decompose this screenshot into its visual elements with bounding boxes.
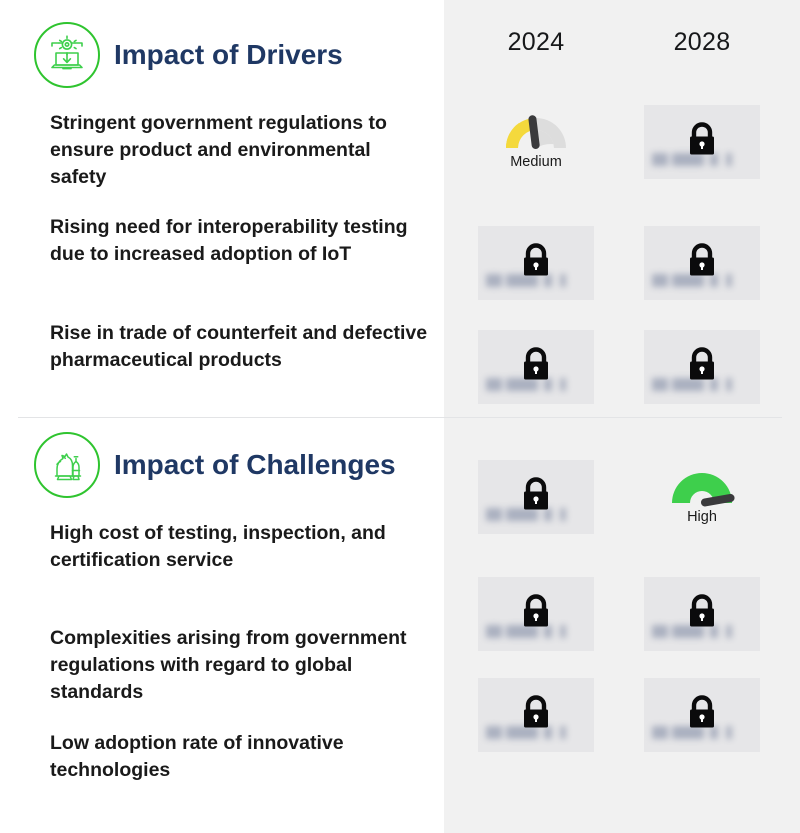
section-title-challenges: Impact of Challenges	[114, 449, 396, 481]
locked-tile[interactable]	[644, 226, 760, 300]
lock-icon	[520, 476, 552, 519]
locked-tile[interactable]	[478, 460, 594, 534]
lock-icon	[686, 593, 718, 636]
section-divider	[18, 417, 782, 418]
gauge-cell-challenges-1-2028: High	[644, 460, 760, 525]
challenge-item-3: Low adoption rate of innovative technolo…	[50, 730, 430, 784]
driver-item-1: Stringent government regulations to ensu…	[50, 110, 430, 191]
infographic-root: 2024 2028 Impact of Drivers Str	[0, 0, 800, 833]
lock-icon	[686, 346, 718, 389]
challenge-item-2: Complexities arising from government reg…	[50, 625, 430, 706]
locked-tile[interactable]	[644, 330, 760, 404]
locked-tile[interactable]	[644, 105, 760, 179]
lock-icon	[520, 242, 552, 285]
lock-icon	[686, 242, 718, 285]
lock-icon	[686, 694, 718, 737]
gauge-label-high: High	[644, 509, 760, 525]
lock-icon	[520, 694, 552, 737]
challenge-item-1: High cost of testing, inspection, and ce…	[50, 520, 430, 574]
locked-tile[interactable]	[644, 678, 760, 752]
drivers-automation-icon	[34, 22, 100, 88]
lock-icon	[520, 346, 552, 389]
driver-item-2: Rising need for interoperability testing…	[50, 214, 430, 268]
challenges-chess-icon	[34, 432, 100, 498]
gauge-cell-drivers-1-2024: Medium	[478, 105, 594, 170]
gauge-high	[663, 460, 741, 508]
section-heading-challenges: Impact of Challenges	[34, 432, 396, 498]
locked-tile[interactable]	[478, 678, 594, 752]
column-header-2028: 2028	[622, 28, 782, 57]
locked-tile[interactable]	[478, 577, 594, 651]
gauge-label-medium: Medium	[478, 154, 594, 170]
gauge-medium	[497, 105, 575, 153]
locked-tile[interactable]	[644, 577, 760, 651]
column-header-2024: 2024	[456, 28, 616, 57]
lock-icon	[686, 121, 718, 164]
driver-item-3: Rise in trade of counterfeit and defecti…	[50, 320, 430, 374]
section-heading-drivers: Impact of Drivers	[34, 22, 343, 88]
locked-tile[interactable]	[478, 330, 594, 404]
section-title-drivers: Impact of Drivers	[114, 39, 343, 71]
lock-icon	[520, 593, 552, 636]
locked-tile[interactable]	[478, 226, 594, 300]
